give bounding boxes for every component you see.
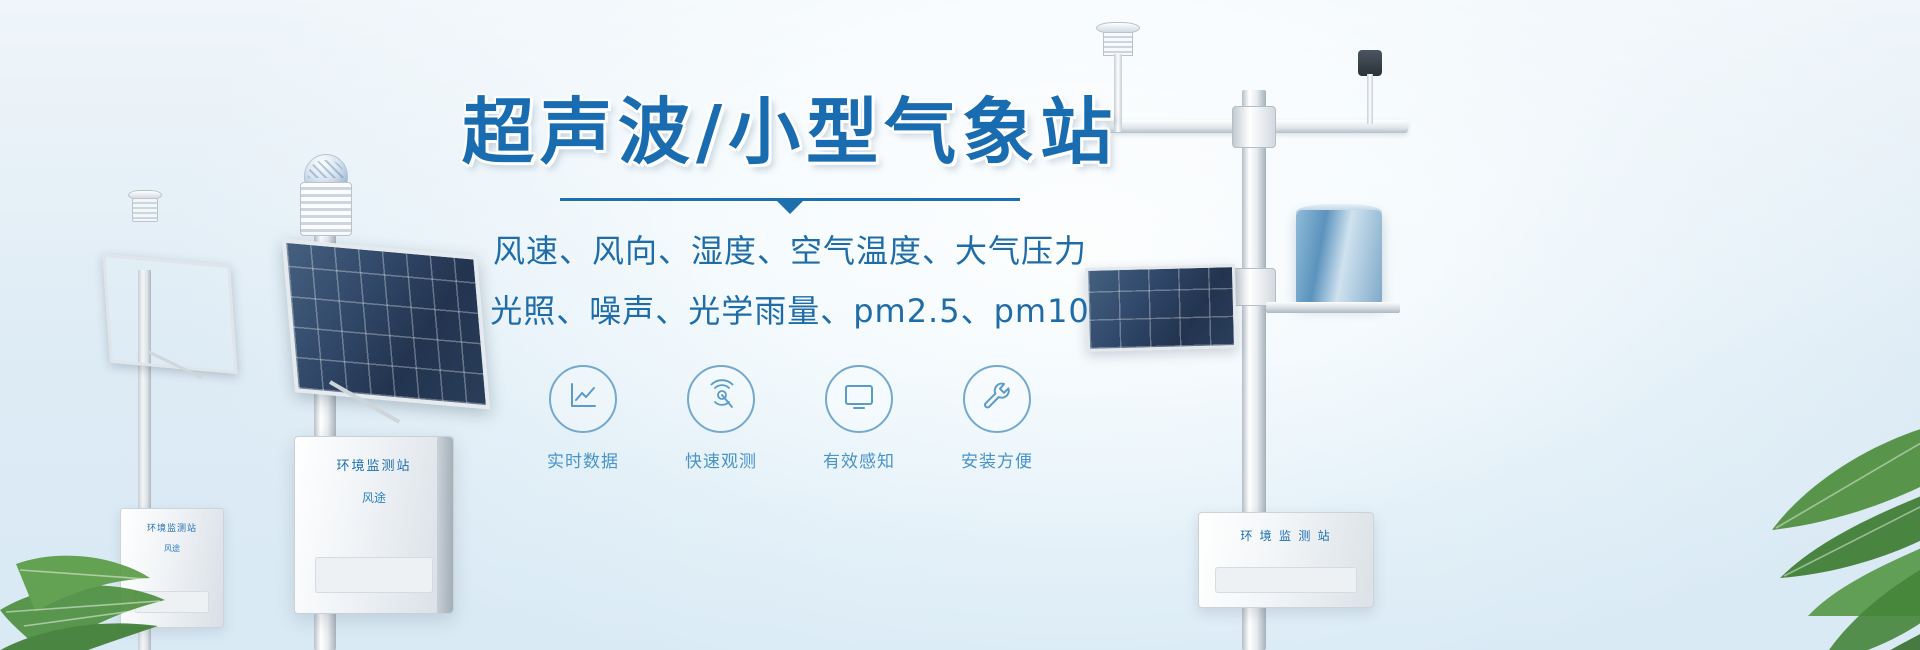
- banner-title: 超声波/小型气象站: [430, 96, 1150, 168]
- left-station-sensor-head: [124, 190, 166, 224]
- right-station-shelf: [1266, 302, 1400, 313]
- right-cabinet-vent: [1215, 567, 1357, 593]
- monitor-icon: [841, 378, 877, 419]
- feature-item-fast-observation[interactable]: 快速观测: [678, 365, 764, 472]
- wrench-icon: [979, 378, 1015, 419]
- radar-wave-icon: [703, 378, 739, 419]
- right-station-cabinet: 环 境 监 测 站: [1198, 512, 1374, 608]
- rain-gauge: [1296, 210, 1382, 306]
- feature-label: 实时数据: [547, 447, 619, 472]
- feature-label: 快速观测: [685, 447, 757, 472]
- feature-item-effective-sensing[interactable]: 有效感知: [816, 365, 902, 472]
- center-station-radiation-shield: [300, 182, 352, 236]
- feature-label: 安装方便: [961, 447, 1033, 472]
- right-cabinet-label: 环 境 监 测 站: [1199, 527, 1373, 544]
- divider-triangle-icon: [777, 201, 803, 214]
- feature-item-realtime-data[interactable]: 实时数据: [540, 365, 626, 472]
- title-divider: [560, 198, 1020, 214]
- feature-item-easy-install[interactable]: 安装方便: [954, 365, 1040, 472]
- feature-icon-circle: [825, 365, 893, 433]
- banner-content: 超声波/小型气象站 风速、风向、湿度、空气温度、大气压力 光照、噪声、光学雨量、…: [430, 96, 1150, 472]
- line-chart-icon: [565, 378, 601, 419]
- center-cabinet-brand: 风途: [295, 489, 453, 506]
- product-banner: 环境监测站 风途 环境监测站 风途: [0, 0, 1920, 650]
- feature-list: 实时数据 快速观测: [430, 365, 1150, 472]
- right-station-collar-upper: [1232, 106, 1276, 148]
- banana-leaf-left: [0, 460, 220, 650]
- left-station-solar-panel: [102, 254, 237, 374]
- feature-icon-circle: [963, 365, 1031, 433]
- banana-leaf-right-lower: [1760, 530, 1920, 650]
- right-station-collar-lower: [1232, 268, 1276, 306]
- feature-label: 有效感知: [823, 447, 895, 472]
- wind-vane-sensor: [1352, 50, 1388, 122]
- ultrasonic-wind-sensor: [1094, 22, 1142, 68]
- center-cabinet-vent: [315, 557, 433, 593]
- feature-icon-circle: [687, 365, 755, 433]
- banner-subtitle-line-1: 风速、风向、湿度、空气温度、大气压力: [430, 228, 1150, 274]
- feature-icon-circle: [549, 365, 617, 433]
- banner-subtitle-line-2: 光照、噪声、光学雨量、pm2.5、pm10: [430, 288, 1150, 334]
